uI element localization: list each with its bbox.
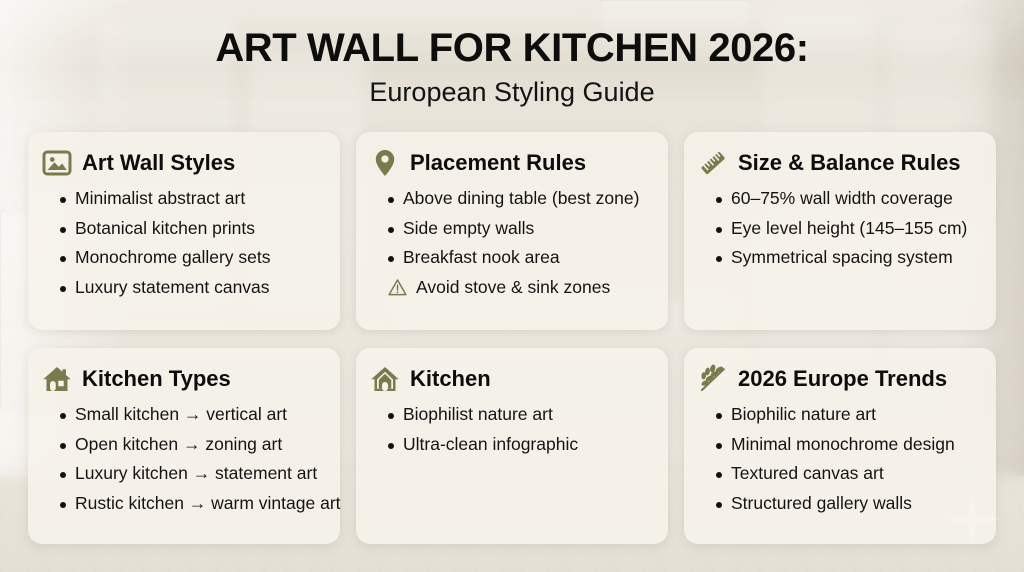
card-europe-trends: 2026 Europe TrendsBiophilic nature artMi… [684, 348, 996, 544]
list-item: Avoid stove & sink zones [388, 279, 652, 301]
bullet-dot-icon [388, 256, 394, 262]
bullet-dot-icon [60, 256, 66, 262]
leaf-branch-icon [698, 364, 728, 394]
list-item-label: Side empty walls [403, 220, 534, 238]
house-icon [370, 364, 400, 394]
bullet-list: 60–75% wall width coverageEye level heig… [698, 190, 980, 267]
list-item: Breakfast nook area [388, 249, 652, 267]
list-item: Luxury kitchen → statement art [60, 465, 324, 483]
bullet-dot-icon [716, 443, 722, 449]
list-item: Rustic kitchen → warm vintage art [60, 495, 324, 513]
list-item-label: Rustic kitchen → warm vintage art [75, 495, 341, 513]
list-item-label: Biophilist nature art [403, 406, 553, 424]
list-item: Small kitchen → vertical art [60, 406, 324, 424]
list-item: Eye level height (145–155 cm) [716, 220, 980, 238]
bullet-list: Biophilic nature artMinimal monochrome d… [698, 406, 980, 512]
card-kitchen-types: Kitchen TypesSmall kitchen → vertical ar… [28, 348, 340, 544]
card-title: Size & Balance Rules [738, 150, 961, 176]
warning-triangle-icon [388, 279, 407, 301]
list-item-label: Open kitchen → zoning art [75, 436, 282, 454]
list-item-label: Textured canvas art [731, 465, 884, 483]
list-item: Structured gallery walls [716, 495, 980, 513]
bullet-dot-icon [388, 227, 394, 233]
card-grid: Art Wall StylesMinimalist abstract artBo… [28, 132, 996, 548]
header: ART WALL FOR KITCHEN 2026: European Styl… [0, 0, 1024, 108]
list-item: 60–75% wall width coverage [716, 190, 980, 208]
list-item-label: Breakfast nook area [403, 249, 560, 267]
list-item: Minimalist abstract art [60, 190, 324, 208]
list-item-label: Luxury kitchen → statement art [75, 465, 317, 483]
list-item-label: Symmetrical spacing system [731, 249, 953, 267]
bullet-dot-icon [388, 413, 394, 419]
bullet-dot-icon [60, 472, 66, 478]
card-placement-rules: Placement RulesAbove dining table (best … [356, 132, 668, 330]
list-item: Monochrome gallery sets [60, 249, 324, 267]
card-header: Size & Balance Rules [698, 148, 980, 178]
list-item: Biophilist nature art [388, 406, 652, 424]
image-photo-icon [42, 148, 72, 178]
list-item: Open kitchen → zoning art [60, 436, 324, 454]
ruler-icon [698, 148, 728, 178]
list-item-label: Ultra-clean infographic [403, 436, 578, 454]
list-item-label: Avoid stove & sink zones [416, 279, 610, 297]
bullet-dot-icon [60, 443, 66, 449]
bullet-list: Above dining table (best zone)Side empty… [370, 190, 652, 300]
card-title: Kitchen Types [82, 366, 231, 392]
list-item: Botanical kitchen prints [60, 220, 324, 238]
list-item: Ultra-clean infographic [388, 436, 652, 454]
bullet-dot-icon [716, 502, 722, 508]
bullet-dot-icon [388, 443, 394, 449]
list-item-label: Eye level height (145–155 cm) [731, 220, 967, 238]
list-item: Symmetrical spacing system [716, 249, 980, 267]
card-header: Kitchen Types [42, 364, 324, 394]
list-item: Luxury statement canvas [60, 279, 324, 297]
list-item: Minimal monochrome design [716, 436, 980, 454]
list-item-label: Minimal monochrome design [731, 436, 955, 454]
bullet-dot-icon [716, 197, 722, 203]
list-item-label: Small kitchen → vertical art [75, 406, 287, 424]
bullet-dot-icon [60, 286, 66, 292]
bullet-dot-icon [60, 227, 66, 233]
bullet-dot-icon [60, 197, 66, 203]
list-item-label: Biophilic nature art [731, 406, 876, 424]
card-title: Placement Rules [410, 150, 586, 176]
house-window-icon [42, 364, 72, 394]
card-header: Art Wall Styles [42, 148, 324, 178]
card-art-wall-styles: Art Wall StylesMinimalist abstract artBo… [28, 132, 340, 330]
card-size-balance-rules: Size & Balance Rules60–75% wall width co… [684, 132, 996, 330]
bullet-dot-icon [60, 502, 66, 508]
list-item-label: Minimalist abstract art [75, 190, 245, 208]
card-kitchen: KitchenBiophilist nature artUltra-clean … [356, 348, 668, 544]
card-header: Placement Rules [370, 148, 652, 178]
bullet-dot-icon [388, 197, 394, 203]
bullet-list: Biophilist nature artUltra-clean infogra… [370, 406, 652, 453]
card-header: Kitchen [370, 364, 652, 394]
bullet-list: Small kitchen → vertical artOpen kitchen… [42, 406, 324, 512]
list-item: Biophilic nature art [716, 406, 980, 424]
list-item-label: Botanical kitchen prints [75, 220, 255, 238]
bullet-list: Minimalist abstract artBotanical kitchen… [42, 190, 324, 296]
card-title: 2026 Europe Trends [738, 366, 947, 392]
bullet-dot-icon [716, 227, 722, 233]
list-item: Above dining table (best zone) [388, 190, 652, 208]
list-item-label: Above dining table (best zone) [403, 190, 639, 208]
list-item: Side empty walls [388, 220, 652, 238]
bullet-dot-icon [60, 413, 66, 419]
page-title: ART WALL FOR KITCHEN 2026: [0, 26, 1024, 71]
bullet-dot-icon [716, 413, 722, 419]
card-title: Art Wall Styles [82, 150, 235, 176]
card-title: Kitchen [410, 366, 491, 392]
list-item-label: 60–75% wall width coverage [731, 190, 953, 208]
bullet-dot-icon [716, 256, 722, 262]
list-item-label: Luxury statement canvas [75, 279, 270, 297]
list-item: Textured canvas art [716, 465, 980, 483]
list-item-label: Monochrome gallery sets [75, 249, 271, 267]
card-header: 2026 Europe Trends [698, 364, 980, 394]
bullet-dot-icon [716, 472, 722, 478]
list-item-label: Structured gallery walls [731, 495, 912, 513]
location-pin-icon [370, 148, 400, 178]
page-subtitle: European Styling Guide [0, 77, 1024, 108]
